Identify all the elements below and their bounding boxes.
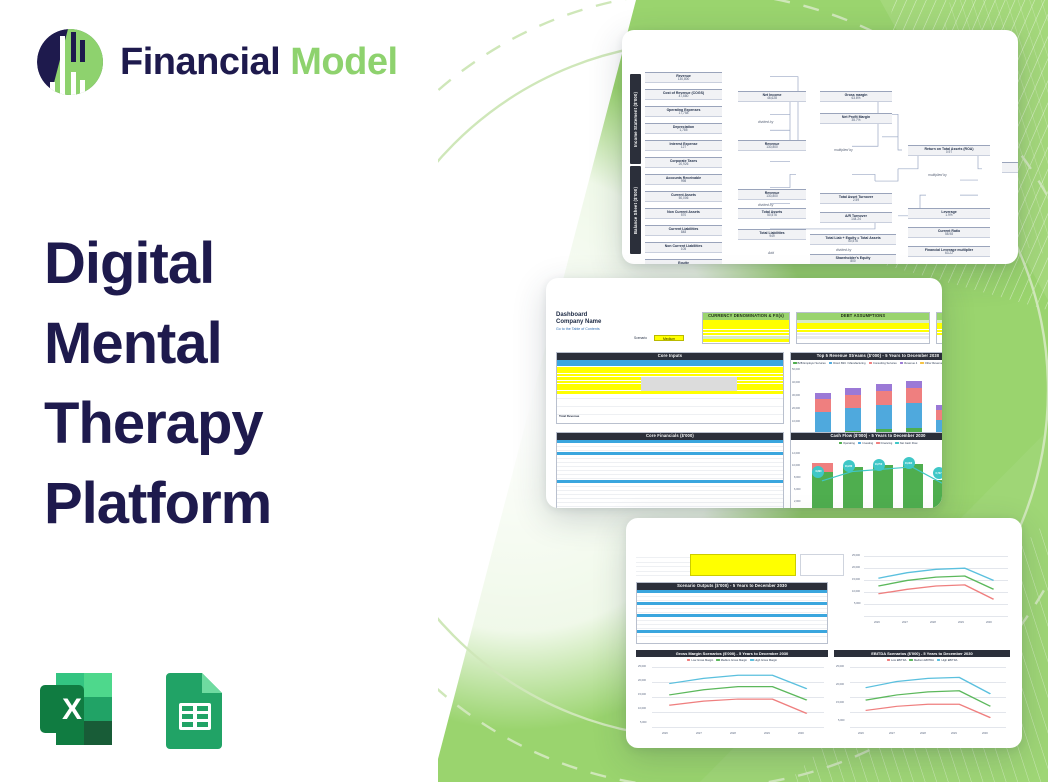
operator-divided-by-1: divided by <box>758 120 773 124</box>
node-current-liabilities: Current Liabilities848 <box>645 225 722 236</box>
node-financial-leverage-multiplier: Financial Leverage multiplier63.22 <box>908 246 990 257</box>
node-leverage: Leverage1.9% <box>908 208 990 219</box>
node-net-profit-margin: Net Profit Margin35.7% <box>820 113 892 124</box>
node-roa: Return on Total Assets (ROA)0.97 <box>908 145 990 156</box>
svg-text:X: X <box>62 693 82 726</box>
debt-assumptions-panel: DEBT ASSUMPTIONS <box>796 312 930 344</box>
value-bubble: 10,990 <box>903 457 915 469</box>
screenshot-card-dashboard[interactable]: Dashboard Company Name Go to the Table o… <box>546 278 942 508</box>
dashboard-title: Dashboard Company Name Go to the Table o… <box>556 312 601 331</box>
operator-divided-by-2: divided by <box>758 203 773 207</box>
chart-plot-area: 12,000 10,000 8,000 6,000 2,000 (2,000) <box>803 453 942 508</box>
scenario-outputs-table: Scenario Outputs ($'000) - 5 Years to De… <box>636 582 828 644</box>
headline-line-2: Mental <box>44 304 444 384</box>
node-net-income: Net Income46,628 <box>738 91 806 102</box>
node-total-assets: Total Assets50,576 <box>738 208 806 219</box>
node-current-assets: Current Assets50,006 <box>645 191 722 202</box>
working-capital-depreciation-panel: WORKING CAPITAL & DEPRECIATION <box>936 312 942 344</box>
value-bubble: 10,700 <box>873 459 885 471</box>
financial-model-logo-icon <box>34 26 106 98</box>
node-ar-turnover: A/R Turnover144.24 <box>820 212 892 223</box>
screenshot-card-scenarios[interactable]: 25,000 20,000 15,000 10,000 5,000 2026 2… <box>626 518 1022 748</box>
operator-divided-by-3: divided by <box>836 248 851 252</box>
net-cash-flow-line <box>803 453 942 508</box>
chart-legend: Low Gross Margin Medium Gross Margin Hig… <box>636 659 828 662</box>
page-title: Digital Mental Therapy Platform <box>44 224 444 544</box>
operator-multiplied-by-2: multiplied by <box>928 173 947 177</box>
brand-name-part1: Financial <box>120 41 290 83</box>
chart-legend: Operating Investing Financing Net Cash F… <box>793 442 942 445</box>
currency-denomination-panel: CURRENCY DENOMINATION & FX(s) <box>702 312 790 344</box>
cash-flow-chart: Cash Flow ($'000) - 5 Years to December … <box>790 432 942 508</box>
google-sheets-icon <box>148 663 240 755</box>
chart-legend: B2B Employer Services Direct B2C / Manuf… <box>793 362 942 365</box>
node-gross-margin: Gross margin63.6% <box>820 91 892 102</box>
chart-plot-area: 25,000 20,000 15,000 10,000 5,000 <box>864 556 1008 616</box>
operator-multiplied-by-1: multiplied by <box>834 148 853 152</box>
file-format-icons: X <box>30 663 240 755</box>
screenshot-card-dupont[interactable]: Income Statement ($'000) Balance Sheet (… <box>622 30 1018 264</box>
scenario-lines <box>850 667 1006 727</box>
node-non-current-assets: Non Current Assets570 <box>645 208 722 219</box>
node-revenue-3: Revenue130,800 <box>738 189 806 200</box>
left-content: Financial Model Digital Mental Therapy P… <box>0 0 470 782</box>
core-financials-panel: Core Financials ($'000) <box>556 432 784 508</box>
node-non-current-liabilities: Non Current Liabilities105 <box>645 242 722 253</box>
node-interest-expense: Interest Expense127 <box>645 140 722 151</box>
headline-line-4: Platform <box>44 464 444 544</box>
chart-legend: Low EBITDA Medium EBITDA High EBITDA <box>834 659 1010 662</box>
node-shareholders-equity: Shareholder's Equity800 <box>810 254 896 264</box>
brand-wordmark: Financial Model <box>120 43 398 81</box>
operator-add: Add <box>768 251 774 255</box>
value-bubble: 10,230 <box>843 460 855 472</box>
chart-plot-area: 25,000 20,000 15,000 10,000 5,000 <box>652 667 824 727</box>
node-roe: Return on Equity (ROE)61.03 <box>1002 162 1018 173</box>
dupont-ratio-tree: Income Statement ($'000) Balance Sheet (… <box>630 56 1010 244</box>
brand-name-part2: Model <box>290 41 397 83</box>
scenario-assumptions-block <box>636 554 796 578</box>
node-depreciation: Depreciation1,785 <box>645 123 722 134</box>
node-current-ratio: Current Ratio58.98 <box>908 227 990 238</box>
promo-slide: Financial Model Digital Mental Therapy P… <box>0 0 1048 782</box>
headline-line-3: Therapy <box>44 384 444 464</box>
node-accounts-receivable: Accounts Receivable998 <box>645 174 722 185</box>
gross-margin-scenarios-chart: Gross Margin Scenarios ($'000) - 5 Years… <box>636 650 828 736</box>
node-total-liabilities: Total Liabilities949 <box>738 229 806 240</box>
scenario-lines <box>864 556 1008 616</box>
scenario-sheet: 25,000 20,000 15,000 10,000 5,000 2026 2… <box>636 554 1012 724</box>
node-cogs: Cost of Revenue (COGS)47,680 <box>645 89 722 100</box>
node-total-asset-turnover: Total Asset Turnover2.59 <box>820 193 892 204</box>
node-equity: Equity49,629 <box>645 259 722 264</box>
node-corporate-taxes: Corporate Taxes20,926 <box>645 157 722 168</box>
node-total-liab-equity: Total Liab + Equity = Total Assets50,576 <box>810 234 896 245</box>
core-inputs-panel: Core Inputs Total Revenue <box>556 352 784 424</box>
node-revenue-2: Revenue130,800 <box>738 140 806 151</box>
scenario-select[interactable]: Medium <box>654 335 684 341</box>
microsoft-excel-icon: X <box>30 663 122 755</box>
dashboard-sheet: Dashboard Company Name Go to the Table o… <box>556 312 932 486</box>
node-revenue: Revenue130,800 <box>645 72 722 83</box>
brand-logo: Financial Model <box>34 26 398 98</box>
ebitda-scenarios-chart: EBITDA Scenarios ($'000) - 5 Years to De… <box>834 650 1010 736</box>
scenario-label: Scenario <box>634 336 647 340</box>
headline-line-1: Digital <box>44 224 444 304</box>
table-of-contents-link[interactable]: Go to the Table of Contents <box>556 327 601 331</box>
scenario-lines <box>652 667 824 727</box>
revenue-scenarios-chart: 25,000 20,000 15,000 10,000 5,000 2026 2… <box>858 554 1010 624</box>
node-operating-expenses: Operating Expenses17,758 <box>645 106 722 117</box>
chart-plot-area: 25,000 20,000 15,000 5,000 <box>850 667 1006 727</box>
